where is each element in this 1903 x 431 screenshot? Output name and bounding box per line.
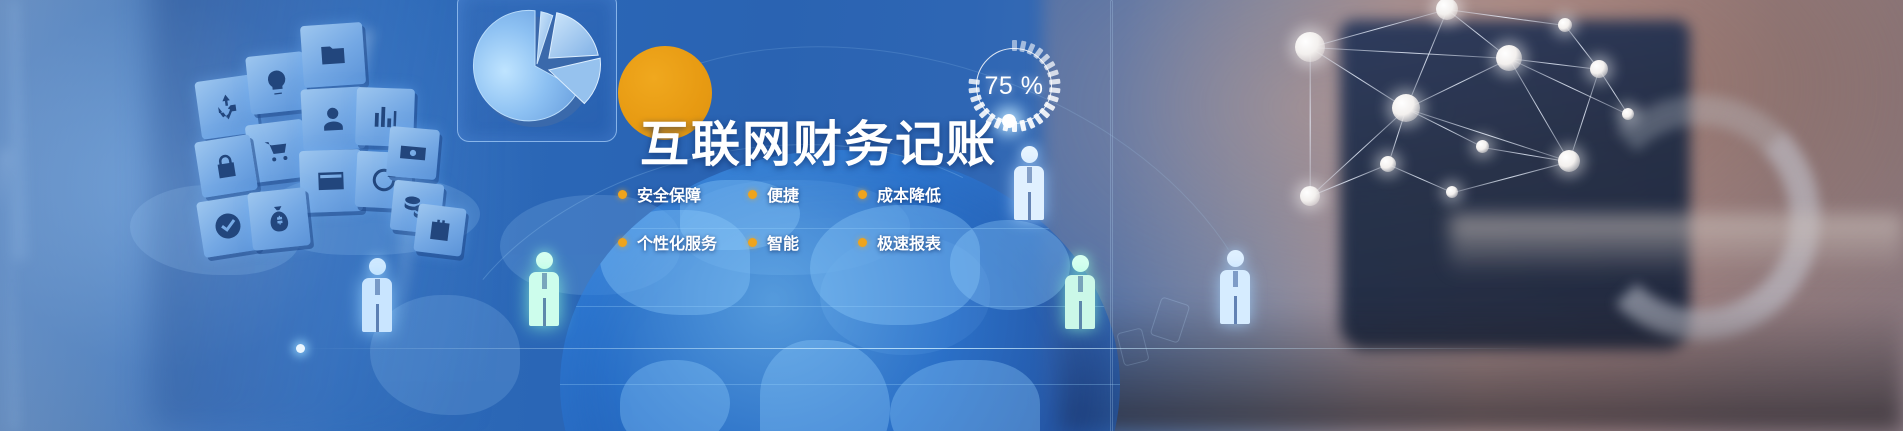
bullet-icon <box>748 238 757 247</box>
network-node <box>1300 186 1320 206</box>
network-node <box>1496 45 1522 71</box>
lock-icon <box>209 149 243 183</box>
feature-label: 成本降低 <box>877 182 941 206</box>
network-edge <box>1568 69 1599 161</box>
feature-item-cost-reduction: 成本降低 <box>858 182 978 206</box>
gauge-tick <box>1012 121 1017 132</box>
cart-icon <box>260 134 293 167</box>
network-graph <box>1240 0 1660 220</box>
network-node <box>1622 108 1634 120</box>
pie-chart <box>458 0 616 141</box>
pie-chart-panel <box>457 0 617 142</box>
person-leg-gap <box>543 298 546 326</box>
marketing-banner: 75 % 互联网财务记账 安全保障 便捷 成本降低 个性化服务 <box>0 0 1903 431</box>
person-icon <box>317 103 349 135</box>
person-figure-5 <box>1218 250 1252 324</box>
person-figure-2 <box>527 252 561 326</box>
icon-cube-lock <box>194 134 258 198</box>
person-leg-gap <box>1234 296 1237 324</box>
person-head <box>1072 255 1089 272</box>
network-edge <box>1482 147 1569 163</box>
person-figure-4 <box>1063 255 1097 329</box>
person-head <box>536 252 553 269</box>
feature-list: 安全保障 便捷 成本降低 个性化服务 智能 极速报表 <box>618 182 1038 278</box>
person-figure-3 <box>1012 146 1046 220</box>
gauge-tick <box>1049 79 1060 85</box>
feature-item-fast-reports: 极速报表 <box>858 230 978 254</box>
network-node <box>1558 18 1572 32</box>
person-tie <box>375 279 380 295</box>
feature-item-intelligent: 智能 <box>748 230 858 254</box>
person-tie <box>1027 167 1032 183</box>
network-node <box>1590 60 1608 78</box>
network-node <box>1392 94 1420 122</box>
network-edge <box>1310 47 1509 59</box>
feature-label: 个性化服务 <box>637 230 717 254</box>
person-head <box>1227 250 1244 267</box>
gauge-tick <box>1049 87 1060 93</box>
check-circle-icon <box>211 209 245 243</box>
gauge-tick <box>968 79 979 85</box>
recycle-icon <box>210 90 244 124</box>
network-node <box>1446 186 1458 198</box>
bullet-icon <box>748 190 757 199</box>
feature-item-security: 安全保障 <box>618 182 748 206</box>
network-edge <box>1406 108 1569 162</box>
network-edge <box>1452 161 1569 193</box>
icon-cube-credit-card <box>299 149 363 213</box>
person-leg-gap <box>1028 192 1031 220</box>
bullet-icon <box>858 190 867 199</box>
network-edge <box>1406 58 1510 109</box>
bullet-icon <box>618 190 627 199</box>
gauge-tick <box>968 87 979 93</box>
network-edge <box>1309 48 1310 197</box>
feature-label: 安全保障 <box>637 182 701 206</box>
bullet-icon <box>618 238 627 247</box>
person-tie <box>1078 276 1083 292</box>
money-icon <box>397 137 430 170</box>
network-edge <box>1388 164 1453 193</box>
briefcase-icon <box>423 213 456 246</box>
network-node <box>1476 140 1489 153</box>
money-bag-icon <box>263 203 296 236</box>
network-node <box>1295 32 1325 62</box>
feature-item-convenient: 便捷 <box>748 182 858 206</box>
network-edge <box>1405 9 1447 109</box>
feature-label: 智能 <box>767 230 799 254</box>
network-edge <box>1310 47 1407 109</box>
bullet-icon <box>858 238 867 247</box>
network-edge <box>1310 164 1389 197</box>
feature-label: 极速报表 <box>877 230 941 254</box>
icon-cube-money <box>386 126 440 180</box>
lightbulb-icon <box>261 67 294 100</box>
icon-cube-money-bag <box>247 187 311 251</box>
background-ground-light <box>1450 215 1903 275</box>
gauge-tick <box>1012 40 1017 51</box>
feature-item-personalized-service: 个性化服务 <box>618 230 748 254</box>
page-title: 互联网财务记账 <box>640 105 997 176</box>
folder-icon <box>317 39 349 71</box>
icon-cube-cluster <box>170 10 470 240</box>
person-tie <box>542 273 547 289</box>
person-leg-gap <box>1079 301 1082 329</box>
person-figure-1 <box>360 258 394 332</box>
icon-cube-lightbulb <box>245 51 309 115</box>
network-node <box>1558 150 1580 172</box>
line-end-node-left <box>296 344 305 353</box>
feature-row-1: 安全保障 便捷 成本降低 <box>618 182 1038 206</box>
person-tie <box>1233 271 1238 287</box>
person-head <box>369 258 386 275</box>
feature-row-2: 个性化服务 智能 极速报表 <box>618 230 1038 254</box>
icon-cube-briefcase <box>413 203 466 256</box>
person-leg-gap <box>376 304 379 332</box>
network-node <box>1380 156 1396 172</box>
credit-card-icon <box>315 165 346 196</box>
feature-label: 便捷 <box>767 182 799 206</box>
network-edge <box>1310 9 1447 48</box>
person-head <box>1021 146 1038 163</box>
vertical-divider-line <box>1110 0 1113 431</box>
icon-cube-folder <box>300 22 366 88</box>
